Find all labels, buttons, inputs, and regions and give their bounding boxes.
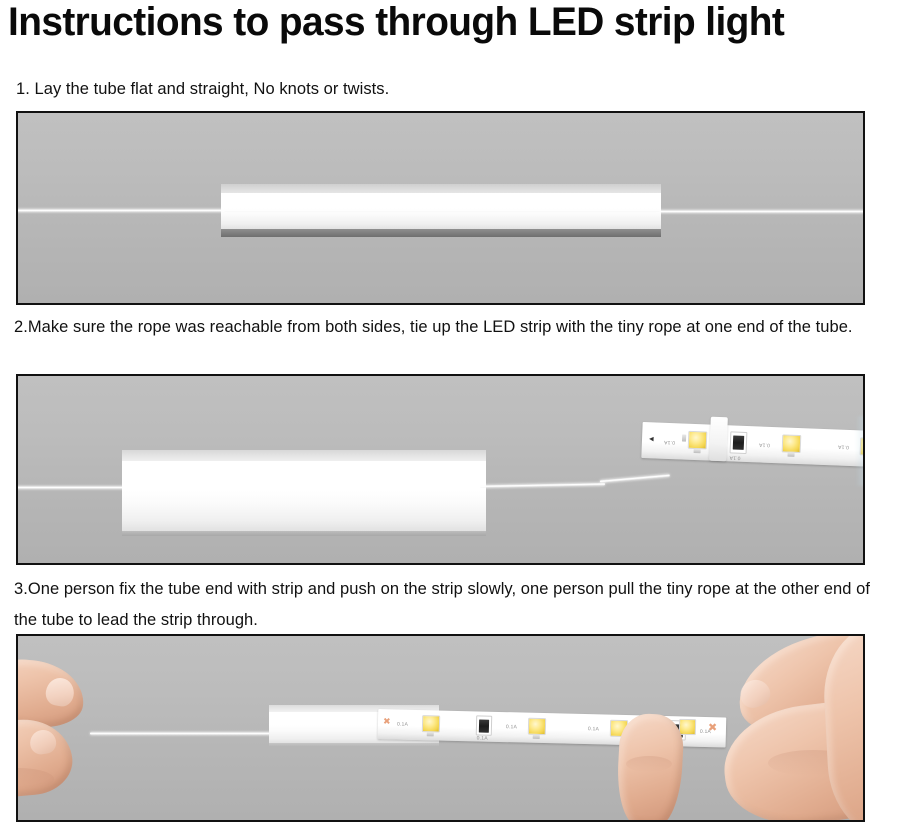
panel-3-background: ✖ 0.1A 0.1A 0.1A 0.1A ✖ 0.1A ✖ <box>18 636 863 820</box>
tube-highlight <box>130 466 478 478</box>
strip-cut-mark-icon: ◂ <box>649 435 654 444</box>
strip-print-label: 0.1A <box>838 444 849 449</box>
strip-print-label: 0.1A <box>588 727 599 732</box>
step-2-caption: 2.Make sure the rope was reachable from … <box>14 312 874 343</box>
led-solder-pad <box>533 735 540 739</box>
step-1-caption: 1. Lay the tube flat and straight, No kn… <box>16 74 876 105</box>
knuckle-crease <box>626 756 672 772</box>
led-channel-tube <box>122 450 486 536</box>
resistor <box>479 719 489 732</box>
led-chip <box>688 431 708 450</box>
strip-print-label: 0.1A <box>397 722 408 727</box>
scan-artifact <box>855 416 865 486</box>
panel-step-1 <box>16 111 865 305</box>
pull-rope <box>16 209 226 212</box>
panel-step-2: ◂ 0.1A 0.1A 0.1A 0.1A <box>16 374 865 565</box>
led-solder-pad <box>694 449 701 453</box>
strip-print-label: 0.1A <box>729 454 740 459</box>
step-3-caption: 3.One person fix the tube end with strip… <box>14 574 874 636</box>
tube-bottom-shadow <box>221 229 661 237</box>
led-solder-pad <box>427 732 434 736</box>
led-chip <box>422 715 440 732</box>
pull-rope <box>90 732 275 735</box>
tube-top-surface <box>221 184 661 193</box>
resistor <box>733 435 745 449</box>
strip-print-label: 0.1A <box>759 441 770 446</box>
led-solder-pad <box>682 435 686 442</box>
led-chip <box>782 434 802 453</box>
panel-step-3: ✖ 0.1A 0.1A 0.1A 0.1A ✖ 0.1A ✖ <box>16 634 865 822</box>
panel-1-background <box>18 113 863 303</box>
led-solder-pad <box>787 453 794 457</box>
pointing-finger-group <box>618 714 738 822</box>
strip-connector <box>709 417 728 462</box>
led-chip <box>528 718 546 735</box>
tube-bottom-shadow <box>269 743 439 747</box>
left-hand-pulling-rope <box>16 650 102 822</box>
strip-cut-mark-icon: ✖ <box>383 718 391 727</box>
tube-top-surface <box>122 450 486 461</box>
strip-print-label: 0.1A <box>664 439 675 444</box>
pull-rope-inside-tube <box>224 209 660 212</box>
pull-rope-to-strip <box>480 483 605 488</box>
led-strip: ◂ 0.1A 0.1A 0.1A 0.1A <box>641 422 865 467</box>
strip-print-label: 0.1A <box>477 736 488 741</box>
pull-rope-to-strip <box>600 474 670 483</box>
pull-rope <box>16 486 128 489</box>
tube-bottom-shadow <box>122 531 486 536</box>
page-title: Instructions to pass through LED strip l… <box>8 0 865 48</box>
tube-highlight <box>227 196 655 205</box>
pull-rope <box>658 210 865 213</box>
strip-print-label: 0.1A <box>506 725 517 730</box>
panel-2-background: ◂ 0.1A 0.1A 0.1A 0.1A <box>18 376 863 563</box>
